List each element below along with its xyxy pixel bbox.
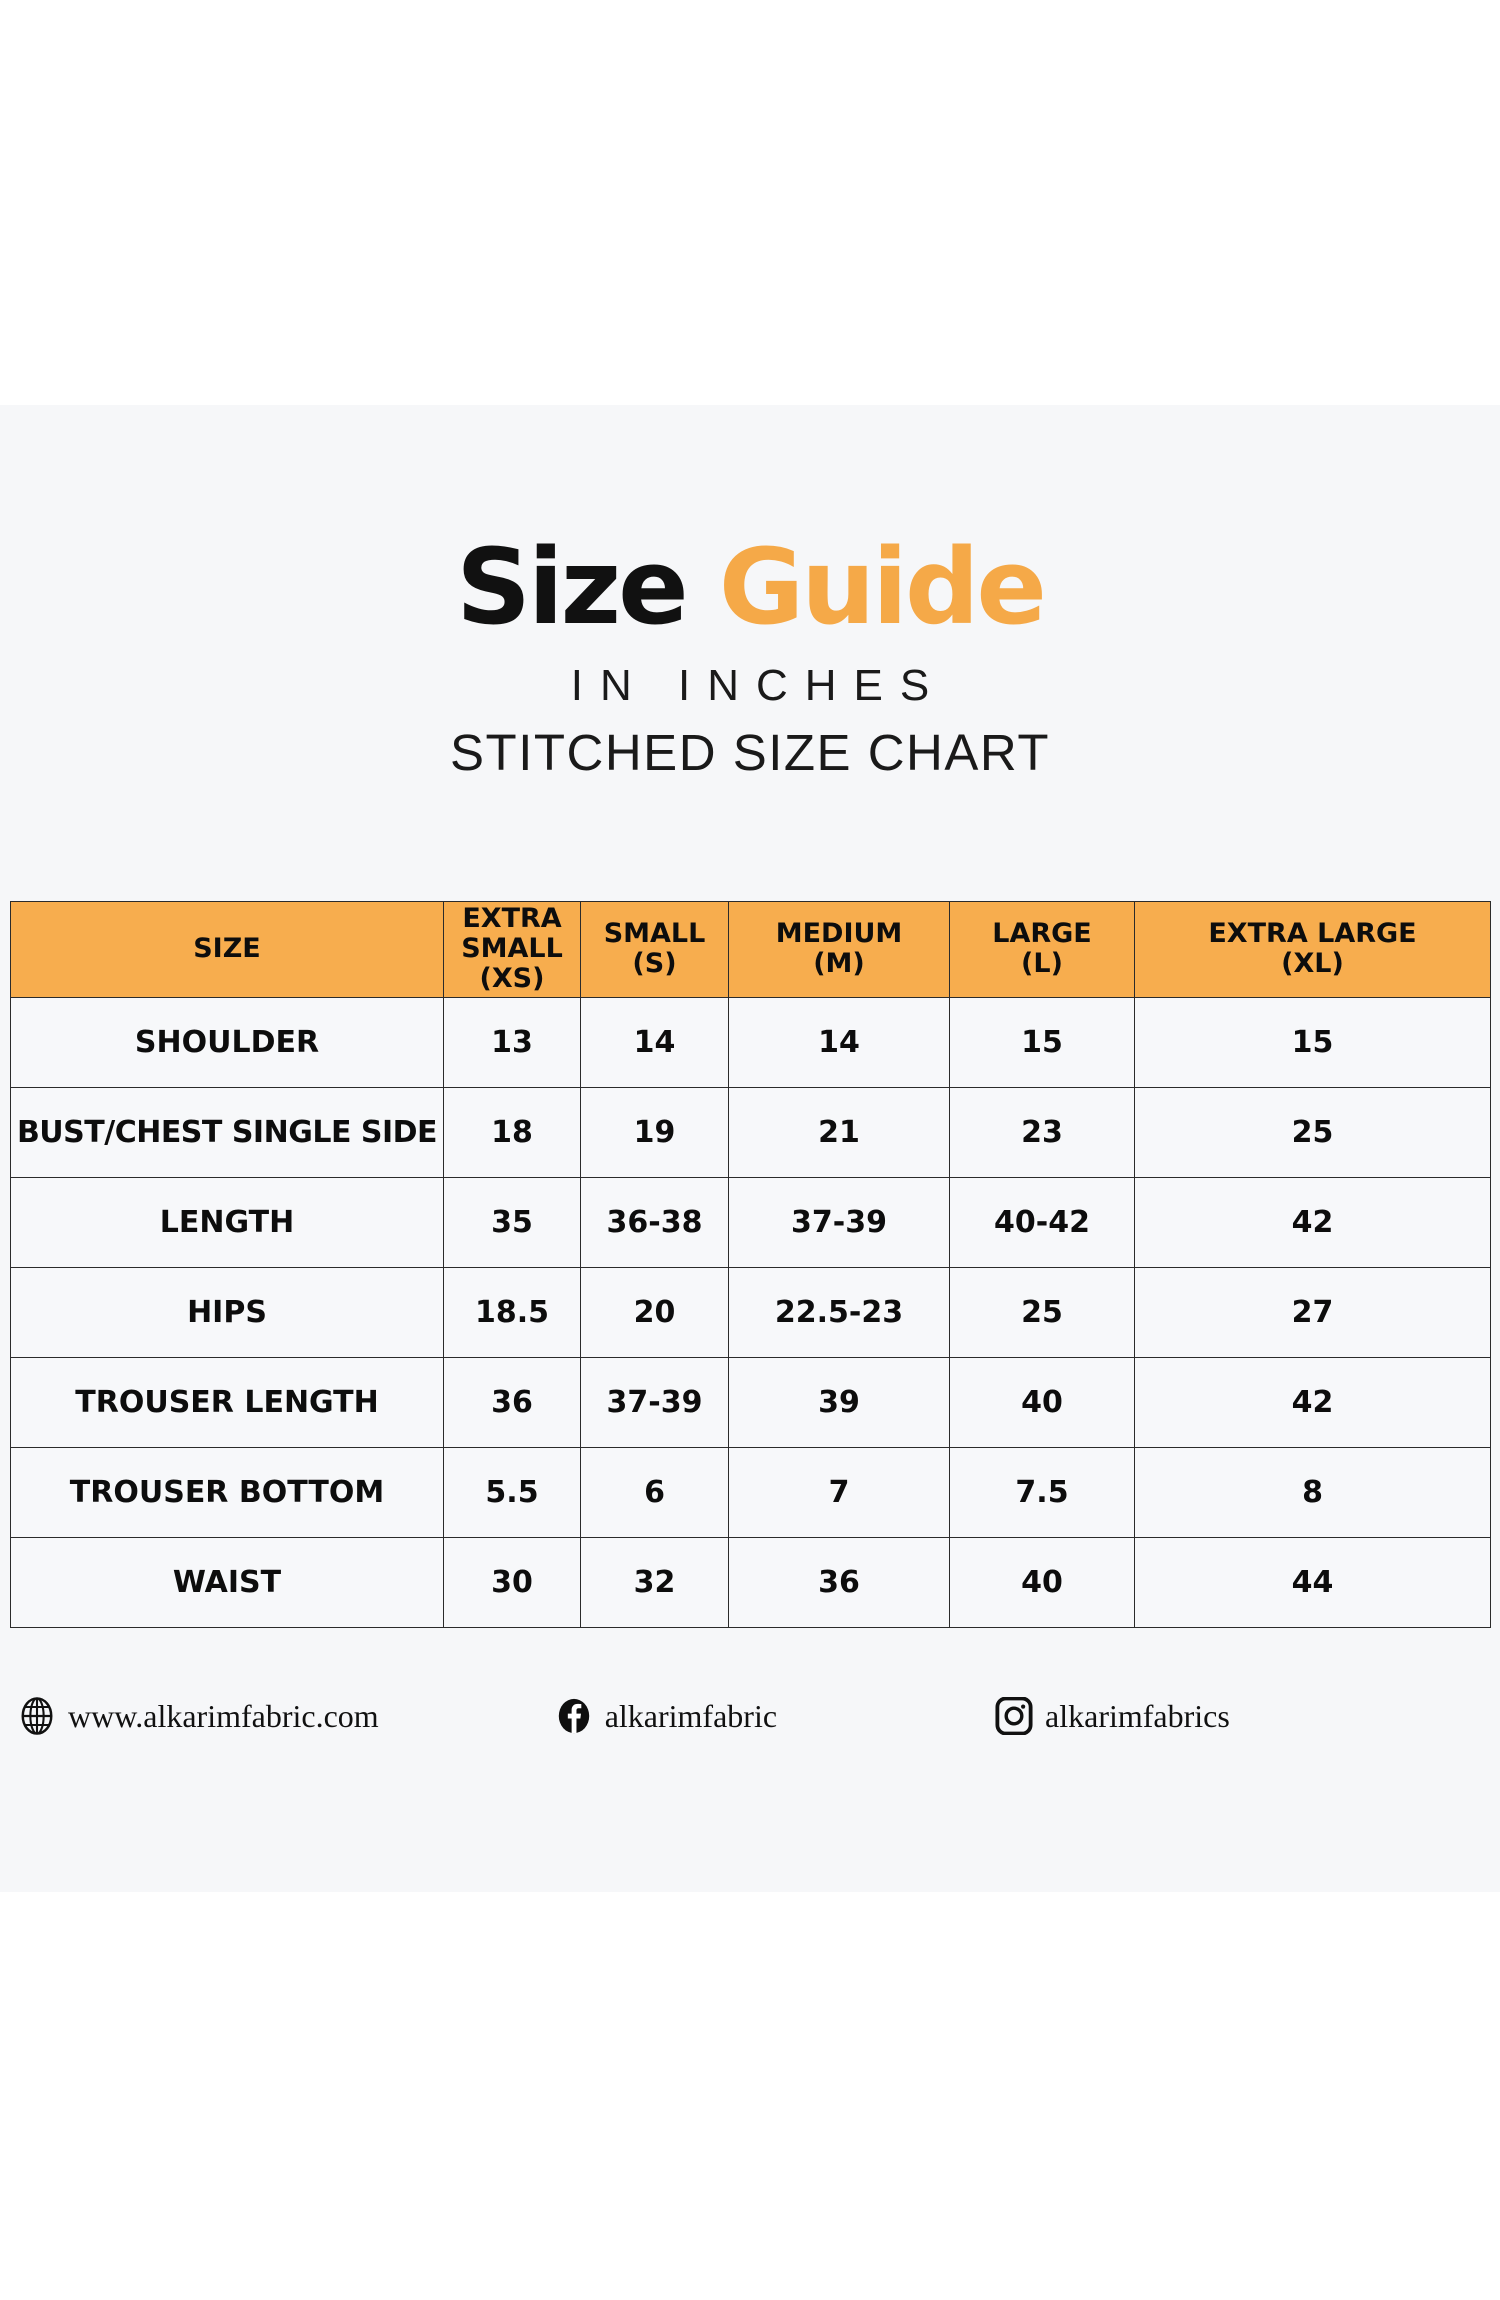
table-row: HIPS 18.5 20 22.5-23 25 27 xyxy=(11,1267,1491,1357)
instagram-icon xyxy=(995,1697,1033,1735)
cell-shoulder-m: 14 xyxy=(729,997,950,1087)
row-label-shoulder: SHOULDER xyxy=(11,997,444,1087)
column-header-s: SMALL(S) xyxy=(581,902,729,998)
cell-length-l: 40-42 xyxy=(950,1177,1135,1267)
footer-website[interactable]: www.alkarimfabric.com xyxy=(18,1697,379,1735)
cell-waist-xl: 44 xyxy=(1135,1537,1491,1627)
cell-hips-m: 22.5-23 xyxy=(729,1267,950,1357)
footer-instagram[interactable]: alkarimfabrics xyxy=(995,1697,1230,1735)
cell-trouser-bottom-s: 6 xyxy=(581,1447,729,1537)
cell-shoulder-xs: 13 xyxy=(444,997,581,1087)
cell-trouser-length-s: 37-39 xyxy=(581,1357,729,1447)
footer-instagram-label: alkarimfabrics xyxy=(1045,1698,1230,1735)
cell-trouser-length-m: 39 xyxy=(729,1357,950,1447)
size-chart-table-wrap: SIZE EXTRASMALL (XS) SMALL(S) MEDIUM(M) … xyxy=(10,901,1490,1628)
footer-facebook[interactable]: alkarimfabric xyxy=(555,1697,777,1735)
row-label-waist: WAIST xyxy=(11,1537,444,1627)
cell-trouser-bottom-l: 7.5 xyxy=(950,1447,1135,1537)
cell-bust-l: 23 xyxy=(950,1087,1135,1177)
footer-facebook-label: alkarimfabric xyxy=(605,1698,777,1735)
cell-trouser-length-l: 40 xyxy=(950,1357,1135,1447)
table-row: LENGTH 35 36-38 37-39 40-42 42 xyxy=(11,1177,1491,1267)
table-row: TROUSER BOTTOM 5.5 6 7 7.5 8 xyxy=(11,1447,1491,1537)
row-label-trouser-bottom: TROUSER BOTTOM xyxy=(11,1447,444,1537)
cell-shoulder-l: 15 xyxy=(950,997,1135,1087)
cell-bust-xs: 18 xyxy=(444,1087,581,1177)
table-row: WAIST 30 32 36 40 44 xyxy=(11,1537,1491,1627)
size-chart-table: SIZE EXTRASMALL (XS) SMALL(S) MEDIUM(M) … xyxy=(10,901,1491,1628)
table-header: SIZE EXTRASMALL (XS) SMALL(S) MEDIUM(M) … xyxy=(11,902,1491,998)
page-title-guide: Guide xyxy=(719,526,1044,648)
cell-waist-l: 40 xyxy=(950,1537,1135,1627)
globe-icon xyxy=(18,1697,56,1735)
cell-hips-xl: 27 xyxy=(1135,1267,1491,1357)
column-header-m: MEDIUM(M) xyxy=(729,902,950,998)
page-title: Size Guide xyxy=(0,535,1500,639)
footer-website-label: www.alkarimfabric.com xyxy=(68,1698,379,1735)
column-header-size: SIZE xyxy=(11,902,444,998)
size-guide-panel: Size Guide IN INCHES STITCHED SIZE CHART… xyxy=(0,405,1500,1892)
cell-hips-xs: 18.5 xyxy=(444,1267,581,1357)
column-header-l: LARGE(L) xyxy=(950,902,1135,998)
cell-bust-xl: 25 xyxy=(1135,1087,1491,1177)
subtitle-units: IN INCHES xyxy=(0,661,1500,711)
footer-contact-bar: www.alkarimfabric.com alkarimfabric alka… xyxy=(0,1697,1500,1735)
cell-trouser-length-xl: 42 xyxy=(1135,1357,1491,1447)
table-row: SHOULDER 13 14 14 15 15 xyxy=(11,997,1491,1087)
column-header-xs: EXTRASMALL (XS) xyxy=(444,902,581,998)
cell-length-m: 37-39 xyxy=(729,1177,950,1267)
table-header-row: SIZE EXTRASMALL (XS) SMALL(S) MEDIUM(M) … xyxy=(11,902,1491,998)
cell-waist-xs: 30 xyxy=(444,1537,581,1627)
heading-block: Size Guide IN INCHES STITCHED SIZE CHART xyxy=(0,405,1500,782)
cell-trouser-length-xs: 36 xyxy=(444,1357,581,1447)
row-label-trouser-length: TROUSER LENGTH xyxy=(11,1357,444,1447)
cell-hips-l: 25 xyxy=(950,1267,1135,1357)
row-label-bust-chest: BUST/CHEST SINGLE SIDE xyxy=(11,1087,444,1177)
cell-bust-m: 21 xyxy=(729,1087,950,1177)
cell-shoulder-s: 14 xyxy=(581,997,729,1087)
cell-waist-s: 32 xyxy=(581,1537,729,1627)
cell-hips-s: 20 xyxy=(581,1267,729,1357)
subtitle-chart-type: STITCHED SIZE CHART xyxy=(0,723,1500,782)
column-header-xl: EXTRA LARGE(XL) xyxy=(1135,902,1491,998)
cell-length-s: 36-38 xyxy=(581,1177,729,1267)
row-label-hips: HIPS xyxy=(11,1267,444,1357)
cell-trouser-bottom-xl: 8 xyxy=(1135,1447,1491,1537)
row-label-length: LENGTH xyxy=(11,1177,444,1267)
table-row: BUST/CHEST SINGLE SIDE 18 19 21 23 25 xyxy=(11,1087,1491,1177)
table-row: TROUSER LENGTH 36 37-39 39 40 42 xyxy=(11,1357,1491,1447)
cell-length-xl: 42 xyxy=(1135,1177,1491,1267)
cell-trouser-bottom-m: 7 xyxy=(729,1447,950,1537)
cell-trouser-bottom-xs: 5.5 xyxy=(444,1447,581,1537)
facebook-icon xyxy=(555,1697,593,1735)
table-body: SHOULDER 13 14 14 15 15 BUST/CHEST SINGL… xyxy=(11,997,1491,1627)
cell-waist-m: 36 xyxy=(729,1537,950,1627)
cell-shoulder-xl: 15 xyxy=(1135,997,1491,1087)
cell-length-xs: 35 xyxy=(444,1177,581,1267)
cell-bust-s: 19 xyxy=(581,1087,729,1177)
page-title-size: Size xyxy=(456,526,719,648)
